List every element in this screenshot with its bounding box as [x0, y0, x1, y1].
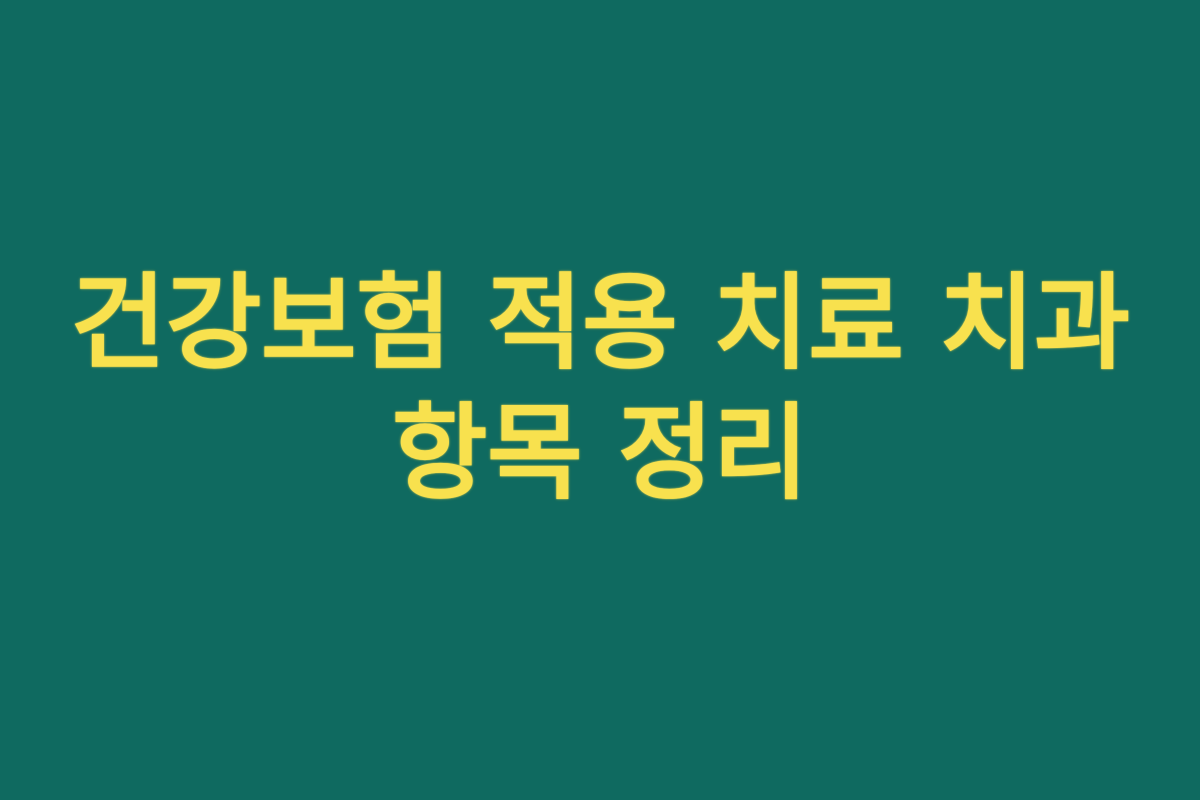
banner-title: 건강보험 적용 치료 치과 항목 정리: [60, 258, 1140, 518]
title-banner: 건강보험 적용 치료 치과 항목 정리: [0, 0, 1200, 800]
banner-title-line-2: 항목 정리: [60, 388, 1140, 518]
banner-title-line-1: 건강보험 적용 치료 치과: [60, 258, 1140, 388]
